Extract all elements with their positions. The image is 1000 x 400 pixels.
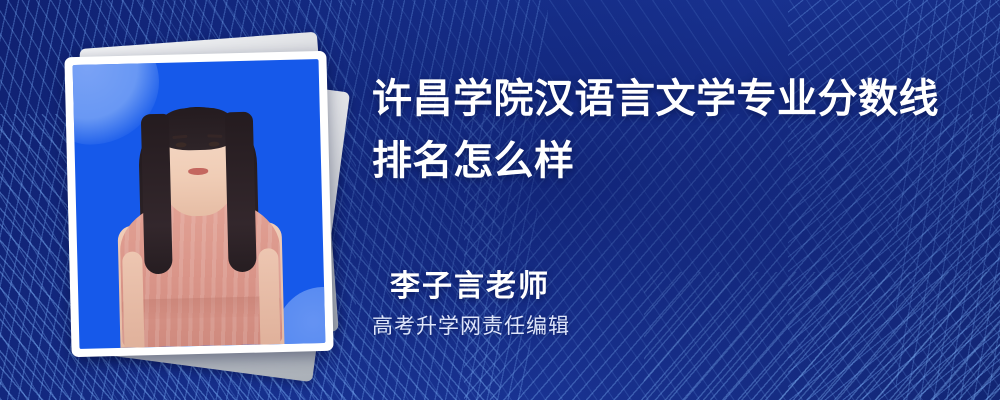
banner-text-column: 许昌学院汉语言文学专业分数线排名怎么样 李子言老师 高考升学网责任编辑	[372, 0, 972, 400]
author-photo	[73, 59, 326, 349]
portrait-mouth	[188, 167, 208, 174]
portrait-illustration	[73, 59, 326, 349]
author-name: 李子言老师	[390, 268, 570, 306]
article-header-banner: 许昌学院汉语言文学专业分数线排名怎么样 李子言老师 高考升学网责任编辑	[0, 0, 1000, 400]
portrait-arm-left	[122, 251, 144, 347]
portrait-dress-waist	[122, 296, 280, 320]
author-byline: 李子言老师 高考升学网责任编辑	[390, 268, 570, 340]
author-role: 高考升学网责任编辑	[372, 312, 570, 340]
portrait-eyebrow-right	[207, 134, 222, 138]
photo-card-stack	[62, 38, 337, 358]
article-headline: 许昌学院汉语言文学专业分数线排名怎么样	[372, 68, 952, 192]
author-photo-card	[64, 51, 333, 357]
portrait-hair-strand-left	[141, 114, 173, 275]
portrait-arm-right	[258, 248, 280, 344]
portrait-hair-strand-right	[225, 112, 257, 273]
